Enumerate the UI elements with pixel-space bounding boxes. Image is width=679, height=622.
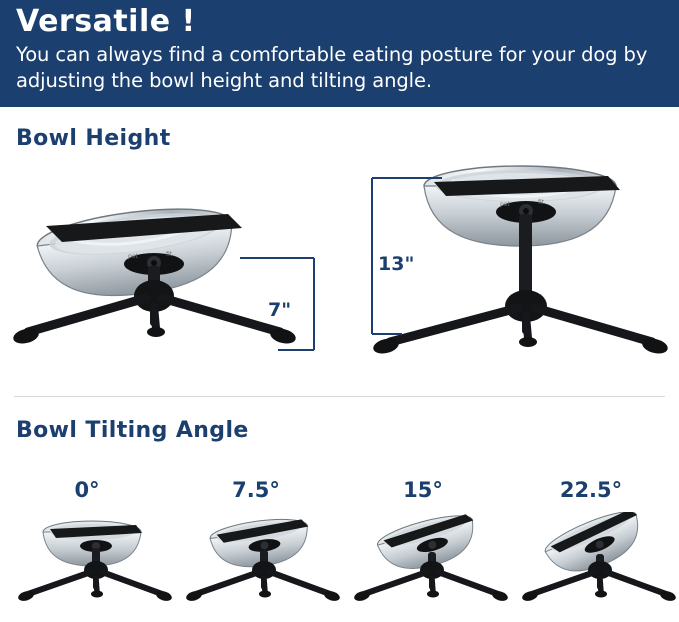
figure-tilt-15	[348, 512, 508, 617]
angle-label-15: 15°	[378, 478, 468, 502]
section-heading-tilting-angle: Bowl Tilting Angle	[16, 418, 249, 443]
tilt-15-illustration	[348, 512, 508, 617]
banner-title: Versatile !	[14, 4, 665, 40]
tilt-22-5-illustration	[516, 512, 676, 617]
figure-high-stand: pet fit 13"	[352, 156, 672, 376]
svg-text:fit: fit	[166, 251, 173, 258]
angle-label-0: 0°	[42, 478, 132, 502]
angle-label-22-5: 22.5°	[546, 478, 636, 502]
figure-low-stand: pet fit 7"	[6, 186, 346, 376]
product-infographic: Versatile ! You can always find a comfor…	[0, 0, 679, 622]
center-post	[519, 214, 532, 300]
figure-tilt-22-5	[516, 512, 676, 617]
figure-tilt-7-5	[180, 512, 340, 617]
svg-text:fit: fit	[538, 199, 545, 206]
svg-text:pet: pet	[500, 201, 511, 208]
header-banner: Versatile ! You can always find a comfor…	[0, 0, 679, 107]
banner-subtitle: You can always find a comfortable eating…	[14, 40, 665, 94]
tilt-7-5-illustration	[180, 512, 340, 617]
section-heading-bowl-height: Bowl Height	[16, 126, 171, 151]
angle-label-7-5: 7.5°	[211, 478, 301, 502]
measure-label-13in: 13"	[375, 253, 417, 275]
tilt-0-illustration	[12, 512, 172, 617]
figure-tilt-0	[12, 512, 172, 617]
measure-label-7in: 7"	[268, 299, 291, 321]
section-divider	[14, 396, 665, 397]
svg-text:pet: pet	[128, 253, 139, 260]
